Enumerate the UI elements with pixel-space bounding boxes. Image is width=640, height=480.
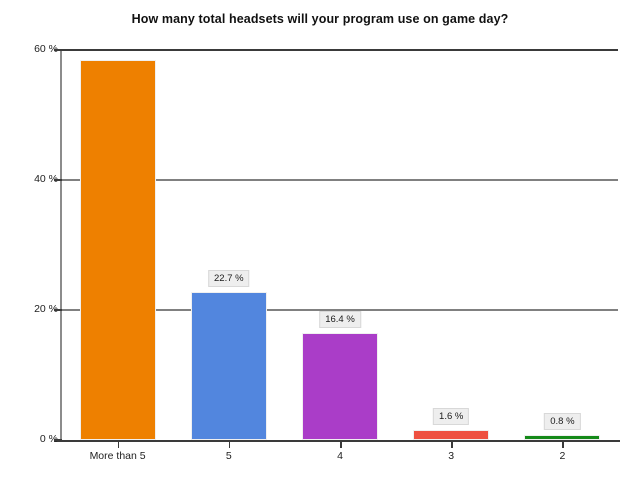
x-tick-label-1: More than 5 xyxy=(58,450,178,462)
bar-1[interactable] xyxy=(80,60,156,440)
bar-chart: How many total headsets will your progra… xyxy=(0,0,640,480)
bar-value-label-5: 0.8 % xyxy=(544,413,580,430)
x-tick-mark-3 xyxy=(340,440,342,448)
bar-3[interactable] xyxy=(302,333,378,440)
y-tick-mark-40 xyxy=(54,179,62,181)
bar-4[interactable] xyxy=(413,430,489,440)
y-tick-label-40: 40 % xyxy=(8,173,58,185)
x-tick-mark-2 xyxy=(229,440,231,448)
y-tick-label-60: 60 % xyxy=(8,43,58,55)
gridline-60 xyxy=(62,49,618,51)
bar-value-label-4: 1.6 % xyxy=(433,408,469,425)
y-tick-label-0: 0 % xyxy=(8,433,58,445)
x-tick-label-3: 4 xyxy=(280,450,400,462)
x-tick-mark-1 xyxy=(118,440,120,448)
x-tick-label-2: 5 xyxy=(169,450,289,462)
bar-2[interactable] xyxy=(191,292,267,440)
x-tick-mark-5 xyxy=(562,440,564,448)
bar-value-label-3: 16.4 % xyxy=(319,311,361,328)
chart-title: How many total headsets will your progra… xyxy=(0,12,640,26)
y-tick-mark-0 xyxy=(54,439,62,441)
y-tick-mark-60 xyxy=(54,49,62,51)
y-tick-label-20: 20 % xyxy=(8,303,58,315)
y-tick-mark-20 xyxy=(54,309,62,311)
x-tick-label-4: 3 xyxy=(391,450,511,462)
plot-area xyxy=(62,50,618,440)
bar-value-label-2: 22.7 % xyxy=(208,270,250,287)
x-axis-line xyxy=(54,440,620,442)
x-tick-mark-4 xyxy=(451,440,453,448)
x-tick-label-5: 2 xyxy=(502,450,622,462)
